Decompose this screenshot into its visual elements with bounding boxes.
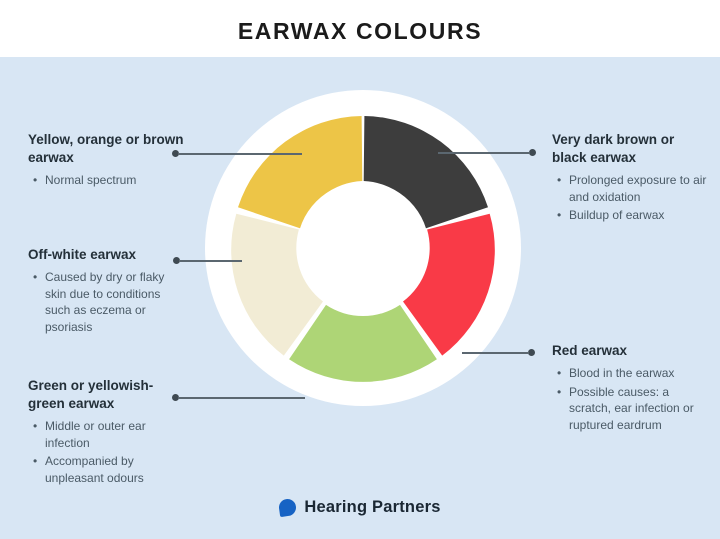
callout-bullet-list: Blood in the earwax Possible causes: a s… [552, 365, 707, 433]
callout-bullet: Caused by dry or flaky skin due to condi… [45, 269, 178, 335]
callout-bullet-list: Prolonged exposure to air and oxidation … [552, 172, 707, 224]
infographic-page: EARWAX COLOURS [0, 0, 720, 539]
callout-bullet: Middle or outer ear infection [45, 418, 188, 451]
callout-title: Very dark brown or black earwax [552, 131, 707, 167]
connector-line-off-white [179, 260, 242, 262]
callout-green-yellowish-green: Green or yellowish-green earwax Middle o… [28, 377, 188, 488]
callout-off-white: Off-white earwax Caused by dry or flaky … [28, 246, 178, 337]
callout-bullet: Prolonged exposure to air and oxidation [569, 172, 707, 205]
callout-bullet-list: Caused by dry or flaky skin due to condi… [28, 269, 178, 335]
callout-red: Red earwax Blood in the earwax Possible … [552, 342, 707, 435]
callout-bullet: Normal spectrum [45, 172, 188, 189]
connector-dot-red [528, 349, 535, 356]
donut-svg [203, 88, 523, 408]
callout-bullet-list: Middle or outer ear infection Accompanie… [28, 418, 188, 486]
connector-line-green [178, 397, 305, 399]
brand-logo: Hearing Partners [0, 498, 720, 517]
callout-bullet: Blood in the earwax [569, 365, 707, 382]
earwax-colour-donut-chart [203, 88, 523, 408]
callout-bullet: Accompanied by unpleasant odours [45, 453, 188, 486]
callout-title: Green or yellowish-green earwax [28, 377, 188, 413]
infographic-canvas: Yellow, orange or brown earwax Normal sp… [0, 57, 720, 539]
connector-dot-black [529, 149, 536, 156]
callout-yellow-orange-brown: Yellow, orange or brown earwax Normal sp… [28, 131, 188, 191]
callout-bullet-list: Normal spectrum [28, 172, 188, 189]
callout-bullet: Possible causes: a scratch, ear infectio… [569, 384, 707, 434]
teardrop-icon [278, 498, 297, 517]
callout-bullet: Buildup of earwax [569, 207, 707, 224]
page-title: EARWAX COLOURS [0, 18, 720, 45]
donut-hub [297, 182, 429, 314]
connector-line-yellow [178, 153, 302, 155]
connector-line-red [462, 352, 529, 354]
callout-very-dark-brown-black: Very dark brown or black earwax Prolonge… [552, 131, 707, 226]
callout-title: Off-white earwax [28, 246, 178, 264]
connector-line-black [438, 152, 530, 154]
callout-title: Red earwax [552, 342, 707, 360]
brand-name: Hearing Partners [304, 498, 440, 517]
callout-title: Yellow, orange or brown earwax [28, 131, 188, 167]
